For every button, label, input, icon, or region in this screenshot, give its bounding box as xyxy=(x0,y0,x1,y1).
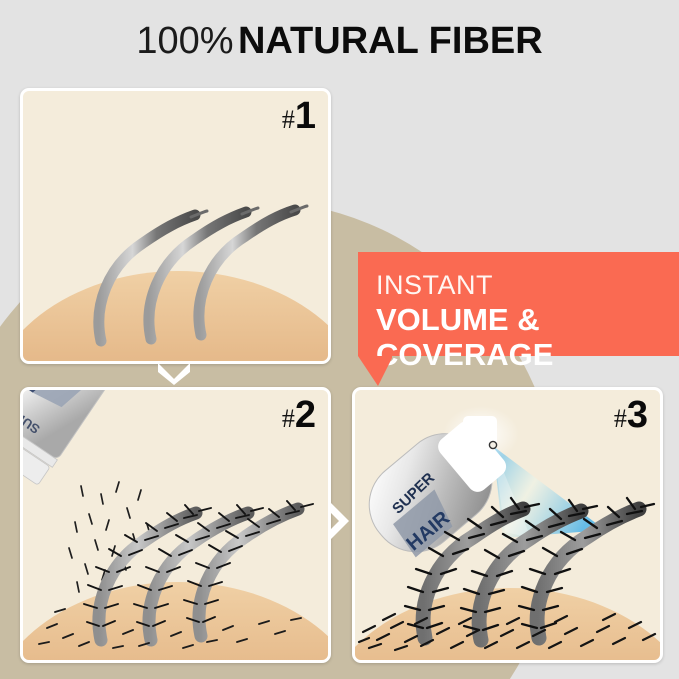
promo-line-1: INSTANT xyxy=(376,270,679,300)
panel-hash-2: # xyxy=(282,404,295,433)
panel-number-3: #3 xyxy=(614,396,648,434)
promo-banner-text: INSTANT VOLUME & COVERAGE xyxy=(376,270,679,373)
promo-banner-tail xyxy=(358,356,392,386)
panel-number-2: #2 xyxy=(282,396,316,434)
chevron-down-icon xyxy=(155,359,193,385)
step-panel-1[interactable]: #1 xyxy=(20,88,331,364)
step-panel-3[interactable]: SUPER HAIR xyxy=(352,387,663,663)
title-light-part: 100% xyxy=(136,20,233,62)
promo-line-2: VOLUME & COVERAGE xyxy=(376,303,679,372)
promo-banner: INSTANT VOLUME & COVERAGE xyxy=(358,252,679,356)
panel-digit-1: 1 xyxy=(295,95,316,137)
panel-digit-2: 2 xyxy=(295,394,316,436)
panel-number-1: #1 xyxy=(282,97,316,135)
step-panel-2[interactable]: SN SUPER xyxy=(20,387,331,663)
panel-hash-3: # xyxy=(614,404,627,433)
page-title: 100% NATURAL FIBER xyxy=(0,20,679,63)
title-bold-part: NATURAL FIBER xyxy=(238,20,543,62)
panel-hash-1: # xyxy=(282,105,295,134)
panel-digit-3: 3 xyxy=(627,394,648,436)
chevron-right-icon xyxy=(327,500,353,542)
infographic-stage: 100% NATURAL FIBER xyxy=(0,0,679,679)
